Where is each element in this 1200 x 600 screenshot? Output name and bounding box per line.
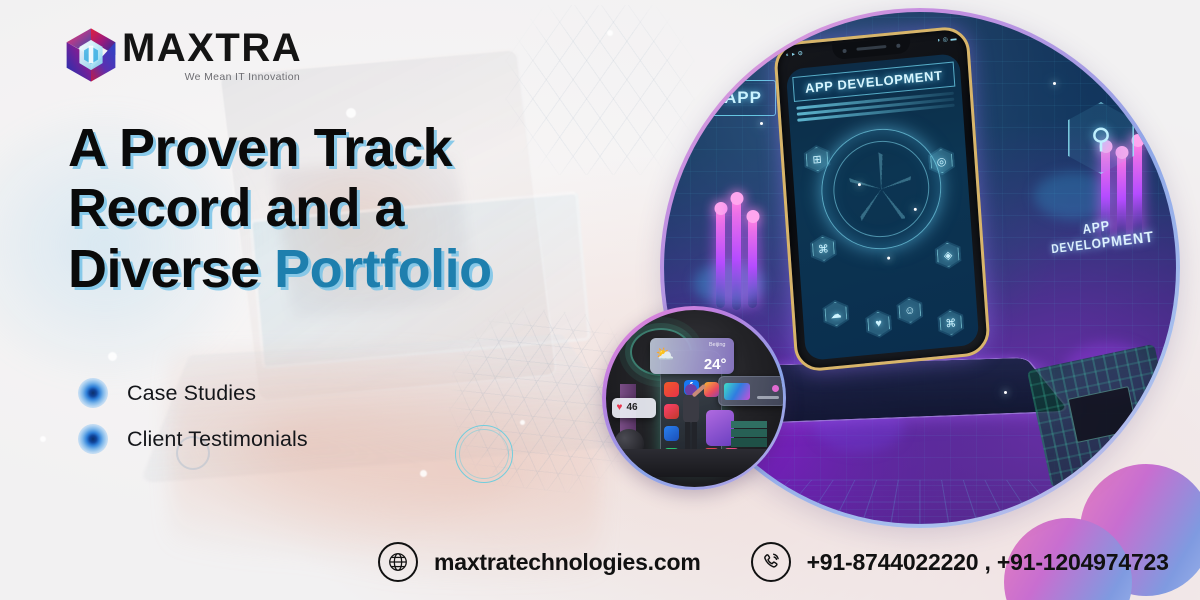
background-bubble	[520, 420, 525, 425]
background-bubble	[607, 30, 613, 36]
phone-screen: APP DEVELOPMENT ⊞ ◎ ⌘ ◈	[786, 53, 980, 361]
inset-likes-badge: ♥ 46	[612, 398, 656, 418]
phone-hex-icon: ♥	[865, 309, 893, 339]
page-title: A Proven Track Record and a Diverse Port…	[68, 118, 492, 299]
radial-dot-icon	[78, 378, 108, 408]
hero-hex-badge-glyph: ⚲	[1091, 122, 1112, 155]
phone-hex-glyph: ♥	[865, 309, 893, 339]
inset-line	[757, 396, 779, 399]
marketing-banner: MAXTRA We Mean IT Innovation A Proven Tr…	[0, 0, 1200, 600]
weather-icon: ⛅	[656, 345, 675, 363]
inset-image-content: ⛅ Beijing 24° ♥ 46 f	[606, 310, 783, 487]
headline-line-1: A Proven Track	[68, 118, 492, 178]
likes-count: 46	[626, 402, 637, 413]
background-bubble	[40, 436, 46, 442]
hero-app-chip-label: APP	[710, 80, 776, 116]
website-link[interactable]: maxtratechnologies.com	[434, 549, 701, 576]
hero-smartphone: ◐ ▸ ⚙ ◑ ◎ ▬ APP DEVELOPMENT ⊞ ◎ ⌘	[773, 25, 991, 373]
phone-hex-icon: ☁	[822, 299, 850, 329]
list-item-label: Case Studies	[127, 381, 256, 406]
background-cyan-ring-icon	[455, 425, 513, 483]
contact-bar: maxtratechnologies.com +91-8744022220 , …	[378, 542, 1169, 582]
phone-hex-icon: ⌘	[937, 308, 965, 338]
hero-spark	[887, 256, 890, 259]
phone-hex-glyph: ◈	[934, 240, 962, 270]
inset-app-icon	[706, 410, 734, 446]
globe-icon	[378, 542, 418, 582]
heart-icon: ♥	[617, 402, 623, 413]
feature-list: Case Studies Client Testimonials	[78, 370, 308, 462]
inset-platform	[606, 449, 783, 477]
phone-status-left: ◐ ▸ ⚙	[785, 50, 803, 59]
inset-weather-widget: ⛅ Beijing 24°	[650, 338, 734, 374]
list-item-label: Client Testimonials	[127, 427, 308, 452]
radial-dot-icon	[78, 424, 108, 454]
list-item[interactable]: Client Testimonials	[78, 416, 308, 462]
brand-tagline: We Mean IT Innovation	[122, 71, 300, 83]
headline-accent-word: Portfolio	[274, 239, 491, 299]
hero-circuit-board	[1027, 344, 1176, 488]
phone-hex-icon: ⌘	[809, 234, 837, 264]
hero-spark	[1004, 391, 1007, 394]
inset-swatch	[724, 383, 750, 400]
weather-temperature: 24°	[704, 356, 727, 373]
headline-line-2: Record and a	[68, 178, 492, 238]
phone-status-right: ◑ ◎ ▬	[936, 35, 957, 44]
background-bubble	[108, 352, 117, 361]
headline-line-3: Diverse Portfolio	[68, 239, 492, 299]
list-item[interactable]: Case Studies	[78, 370, 308, 416]
headline-line-3-plain: Diverse	[68, 239, 274, 299]
background-bubble	[346, 108, 356, 118]
inset-app-icon	[704, 382, 719, 397]
phone-radar-graphic	[817, 124, 945, 255]
background-bubble	[420, 470, 427, 477]
phone-hex-glyph: ☺	[896, 296, 924, 326]
hero-spark	[760, 122, 763, 125]
hero-neon-column	[732, 198, 741, 310]
phone-hex-glyph: ⌘	[937, 308, 965, 338]
weather-city: Beijing	[709, 342, 726, 348]
hexagon-m-logo-icon	[62, 26, 120, 84]
phone-hex-glyph: ⌘	[809, 234, 837, 264]
phone-hex-icon: ◈	[934, 240, 962, 270]
phone-hex-icon: ☺	[896, 296, 924, 326]
phone-icon	[751, 542, 791, 582]
inset-app-icon	[664, 382, 679, 397]
inset-app-icon	[664, 426, 679, 441]
hero-neon-column	[748, 216, 757, 308]
brand-name: MAXTRA	[122, 28, 302, 68]
phone-hex-glyph: ☁	[822, 299, 850, 329]
hero-neon-column	[716, 208, 725, 308]
inset-media-widget	[718, 376, 783, 406]
inset-app-icon	[664, 404, 679, 419]
brand-logo[interactable]: MAXTRA We Mean IT Innovation	[62, 26, 302, 84]
phone-numbers[interactable]: +91-8744022220 , +91-1204974723	[807, 549, 1169, 576]
inset-dot	[772, 385, 779, 392]
inset-image-circle: ⛅ Beijing 24° ♥ 46 f	[602, 306, 786, 490]
hero-spark	[1053, 82, 1056, 85]
